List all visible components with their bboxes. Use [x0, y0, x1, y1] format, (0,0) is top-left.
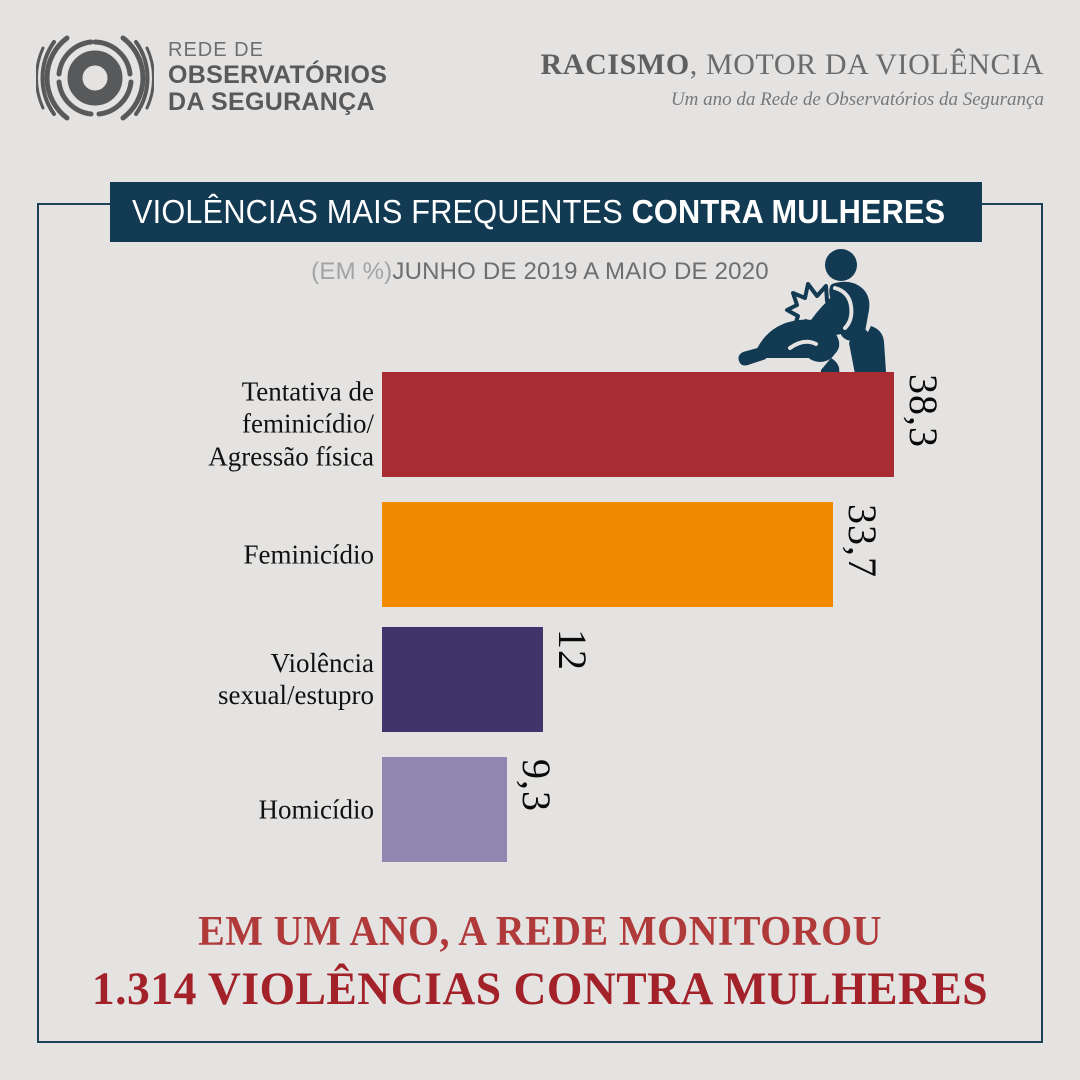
report-title-rest: , MOTOR DA VIOLÊNCIA: [690, 48, 1044, 81]
brand-logo: REDE DE OBSERVATÓRIOS DA SEGURANÇA: [36, 30, 387, 126]
report-subtitle: Um ano da Rede de Observatórios da Segur…: [541, 89, 1044, 111]
chart-title-bar: VIOLÊNCIAS MAIS FREQUENTES CONTRA MULHER…: [110, 182, 982, 242]
footer-line-2: 1.314 VIOLÊNCIAS CONTRA MULHERES: [16, 962, 1064, 1016]
page-header: REDE DE OBSERVATÓRIOS DA SEGURANÇA RACIS…: [0, 0, 1080, 150]
chart-title-bold: CONTRA MULHERES: [632, 193, 946, 230]
brand-line-2: OBSERVATÓRIOS: [168, 63, 387, 88]
chart-title-light: VIOLÊNCIAS MAIS FREQUENTES: [132, 193, 632, 230]
brand-wordmark: REDE DE OBSERVATÓRIOS DA SEGURANÇA: [168, 40, 387, 117]
chart-subtitle: (EM %)JUNHO DE 2019 A MAIO DE 2020: [0, 258, 1080, 286]
footer-line-1: EM UM ANO, A REDE MONITOROU: [27, 908, 1053, 956]
brand-line-3: DA SEGURANÇA: [168, 90, 387, 115]
chart-subtitle-period: JUNHO DE 2019 A MAIO DE 2020: [392, 258, 768, 285]
physical-assault-against-woman-icon: [735, 248, 915, 388]
chart-footer: EM UM ANO, A REDE MONITOROU 1.314 VIOLÊN…: [0, 908, 1080, 1016]
brand-line-1: REDE DE: [168, 40, 387, 60]
radar-waves-icon: [36, 30, 154, 126]
header-titles: RACISMO, MOTOR DA VIOLÊNCIA Um ano da Re…: [541, 48, 1044, 111]
report-title-keyword: RACISMO: [541, 48, 690, 81]
chart-title-text: VIOLÊNCIAS MAIS FREQUENTES CONTRA MULHER…: [132, 193, 945, 231]
chart-subtitle-unit: (EM %): [311, 258, 392, 285]
report-title: RACISMO, MOTOR DA VIOLÊNCIA: [541, 48, 1044, 82]
